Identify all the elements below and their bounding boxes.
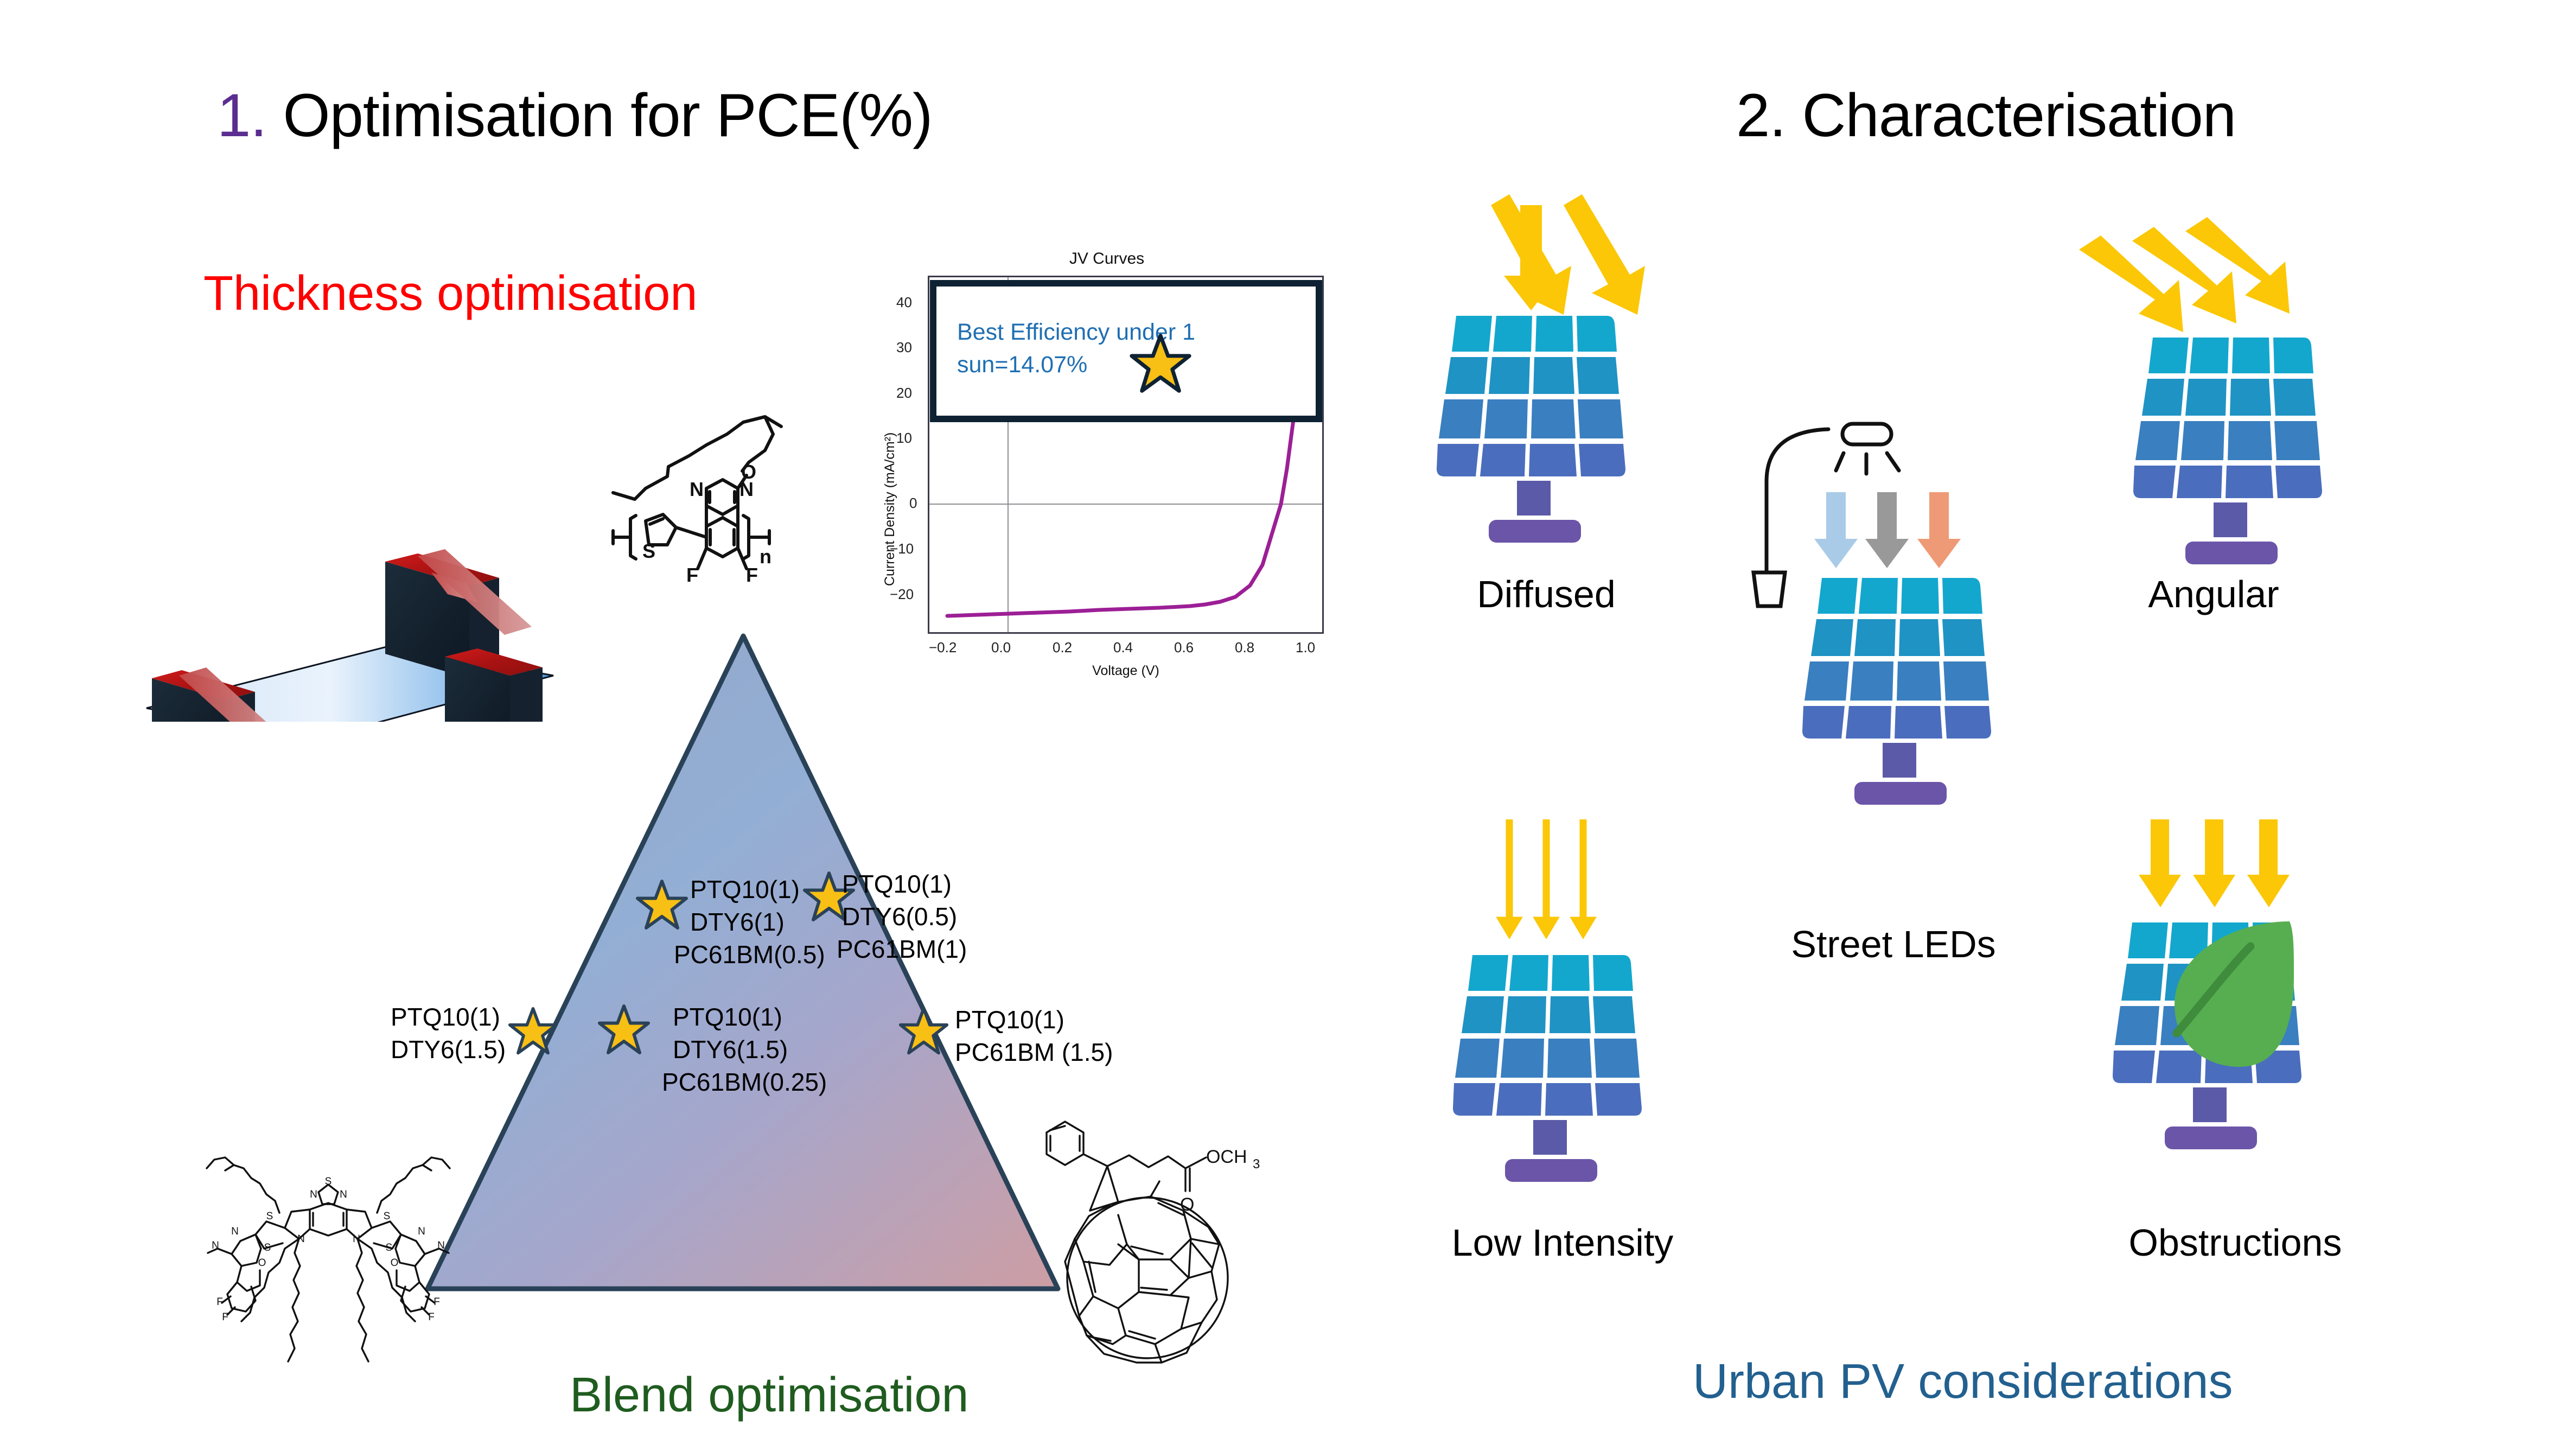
- atom-label-O-left: O: [258, 1257, 266, 1269]
- xtick-0-6: 0.6: [1174, 639, 1194, 656]
- urban-pv-considerations-label: Urban PV considerations: [1693, 1354, 2233, 1410]
- section1-number: 1.: [217, 81, 266, 149]
- arrows-thin-yellow: [1496, 819, 1596, 939]
- card-label-low-intensity: Low Intensity: [1411, 1221, 1714, 1264]
- atom-label-N-right: N: [353, 1233, 360, 1245]
- ytick-30: 30: [896, 339, 912, 356]
- ternary-point-label-lower-mid: PTQ10(1) DTY6(1.5) PC61BM(0.25): [673, 1001, 827, 1098]
- dty6-molecule-structure: S N N N N S S S S N N N N O O F F F F: [203, 1142, 453, 1397]
- chart-title: JV Curves: [868, 250, 1346, 268]
- arrows-diagonal-yellow: [2079, 217, 2290, 332]
- solar-panel-icon: [2133, 338, 2322, 564]
- atom-label-OCH3-sub: 3: [1253, 1157, 1260, 1172]
- solar-panel-icon: [1437, 316, 1625, 543]
- atom-label-S-top: S: [325, 1176, 332, 1187]
- atom-label-S-l2: S: [264, 1242, 271, 1253]
- section1-title-text: Optimisation for PCE(%): [266, 81, 932, 149]
- blend-line: PTQ10(1): [955, 1004, 1113, 1036]
- atom-label-S-r1: S: [384, 1211, 391, 1222]
- ytick-10: 10: [896, 430, 912, 447]
- pc61bm-molecule-structure: OCH 3 O: [1023, 1099, 1294, 1403]
- xtick-1-0: 1.0: [1296, 639, 1315, 656]
- blend-line: PC61BM(0.5): [674, 939, 825, 971]
- blend-line: PTQ10(1): [842, 868, 967, 901]
- best-efficiency-annotation-box: Best Efficiency under 1 sun=14.07%: [930, 280, 1322, 422]
- atom-label-F3: F: [433, 1296, 440, 1308]
- section2-title: 2. Characterisation: [1736, 80, 2236, 150]
- atom-label-F4: F: [428, 1312, 435, 1323]
- atom-label-OCH3: OCH: [1206, 1147, 1247, 1167]
- star-icon-upper-mid: [635, 879, 689, 933]
- atom-label-N2: N: [739, 478, 754, 500]
- annotation-line-2: sun=14.07%: [957, 351, 1087, 379]
- blend-line: PC61BM(0.25): [662, 1066, 827, 1099]
- xtick-0-4: 0.4: [1113, 639, 1133, 656]
- blend-line: DTY6(1.5): [673, 1034, 827, 1066]
- ytick-m10: −10: [890, 540, 914, 557]
- arrows-converging-yellow: [1491, 194, 1645, 315]
- ternary-point-label-right-edge: PTQ10(1) PC61BM (1.5): [955, 1004, 1113, 1069]
- blend-line: DTY6(1): [690, 906, 825, 939]
- atom-label-N-cn1: N: [231, 1226, 239, 1237]
- atom-label-F2: F: [746, 564, 758, 586]
- atom-label-O-carbonyl: O: [1180, 1194, 1194, 1215]
- atom-label-O-right: O: [391, 1257, 399, 1269]
- atom-label-S-r2: S: [386, 1242, 393, 1253]
- star-icon-left-edge: [507, 1007, 559, 1058]
- atom-label-N-tl: N: [310, 1189, 317, 1200]
- card-label-obstructions: Obstructions: [2083, 1221, 2387, 1264]
- atom-label-F2: F: [222, 1312, 228, 1323]
- thickness-optimisation-label: Thickness optimisation: [203, 266, 697, 322]
- arrows-tri-colour: [1814, 492, 1961, 568]
- star-icon: [1128, 333, 1193, 397]
- blend-line: DTY6(1.5): [391, 1034, 506, 1066]
- atom-label-N1: N: [690, 478, 704, 500]
- blend-line: DTY6(0.5): [842, 901, 967, 933]
- ytick-m20: −20: [890, 586, 914, 603]
- ytick-20: 20: [896, 385, 912, 402]
- atom-label-n: n: [760, 545, 771, 568]
- arrows-straight-yellow: [2139, 819, 2290, 907]
- ptq10-molecule-structure: O N N S F F n: [581, 412, 787, 635]
- blend-line: PTQ10(1): [690, 874, 825, 906]
- ternary-point-label-upper-right: PTQ10(1) DTY6(0.5) PC61BM(1): [842, 868, 967, 965]
- section1-title: 1. Optimisation for PCE(%): [217, 80, 932, 150]
- atom-label-F1: F: [686, 564, 698, 586]
- solar-panel-icon: [1453, 955, 1642, 1182]
- jv-curve-chart: JV Curves Current Density (mA/cm²) 40 30…: [868, 250, 1346, 689]
- solar-panel-icon: [1802, 578, 1991, 805]
- atom-label-N-left: N: [297, 1233, 305, 1245]
- blend-line: PC61BM (1.5): [955, 1036, 1113, 1069]
- ternary-point-label-left-edge: PTQ10(1) DTY6(1.5): [391, 1001, 506, 1066]
- card-label-diffused: Diffused: [1411, 572, 1682, 616]
- blend-line: PTQ10(1): [391, 1001, 506, 1034]
- star-icon-lower-mid: [597, 1004, 651, 1058]
- card-obstructions: [2094, 814, 2474, 1248]
- blend-optimisation-label: Blend optimisation: [570, 1367, 968, 1423]
- atom-label-N-tr: N: [340, 1189, 347, 1200]
- atom-label-S-l1: S: [266, 1211, 273, 1222]
- atom-label-N-cn2: N: [212, 1240, 219, 1251]
- ytick-40: 40: [896, 294, 912, 311]
- ternary-point-label-upper-mid: PTQ10(1) DTY6(1) PC61BM(0.5): [690, 874, 825, 971]
- atom-label-S: S: [642, 540, 655, 562]
- ytick-0: 0: [909, 495, 917, 512]
- atom-label-N-cn4: N: [437, 1240, 445, 1251]
- card-low-intensity: [1427, 819, 1839, 1248]
- atom-label-N-cn3: N: [418, 1226, 425, 1237]
- xtick-0-8: 0.8: [1235, 639, 1254, 656]
- atom-label-F1: F: [216, 1296, 223, 1308]
- star-icon-right-edge: [898, 1007, 949, 1058]
- blend-line: PC61BM(1): [837, 933, 967, 966]
- blend-line: PTQ10(1): [673, 1001, 827, 1034]
- chart-ylabel: Current Density (mA/cm²): [882, 432, 898, 586]
